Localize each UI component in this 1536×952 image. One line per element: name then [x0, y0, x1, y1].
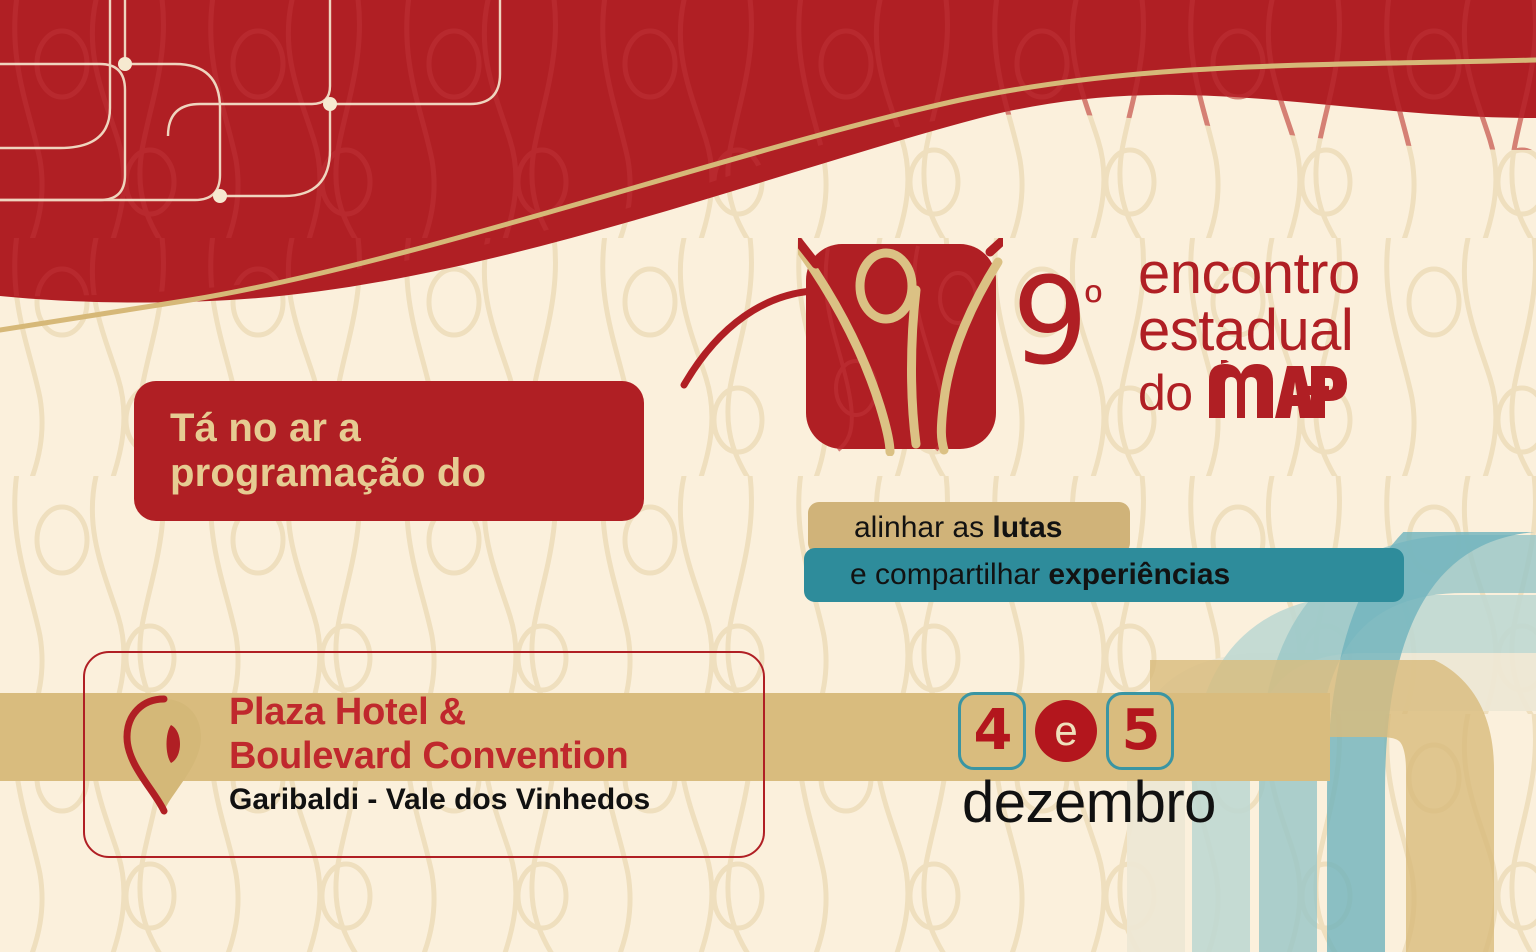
tagline-text-1: alinhar as lutas [854, 511, 1062, 545]
venue-name-line-2: Boulevard Convention [229, 734, 650, 778]
edition-number: 9 [1012, 263, 1088, 383]
map-grass-mark-icon [798, 238, 1003, 456]
date-row: 4 e 5 [958, 690, 1298, 772]
conjunction-text: e [1054, 710, 1077, 752]
logo-title-line-1: encontro [1138, 246, 1360, 303]
day-first: 4 [974, 703, 1011, 759]
day-box-first: 4 [958, 692, 1026, 770]
event-poster: Tá no ar a programação do 9 [0, 0, 1536, 952]
day-second: 5 [1122, 703, 1159, 759]
venue-text-block: Plaza Hotel & Boulevard Convention Garib… [229, 690, 650, 819]
logo-title-line-3: do [1138, 369, 1193, 418]
logo-title-lines: encontro estadual do [1138, 246, 1360, 418]
headline-line-2: programação do [170, 451, 644, 496]
edition-ordinal: º [1085, 278, 1102, 324]
tagline-text-2: e compartilhar experiências [850, 558, 1230, 592]
logo-title-line-2: estadual [1138, 303, 1360, 360]
day-box-second: 5 [1106, 692, 1174, 770]
month-label: dezembro [962, 774, 1298, 832]
tagline-bar-experiencias: e compartilhar experiências [804, 548, 1404, 602]
date-block: 4 e 5 dezembro [958, 690, 1298, 850]
tagline-bar-lutas: alinhar as lutas [808, 502, 1130, 554]
map-pin-icon [121, 695, 207, 815]
circuit-network-icon [0, 0, 560, 300]
headline-banner: Tá no ar a programação do [134, 381, 644, 521]
venue-name-line-1: Plaza Hotel & [229, 690, 650, 734]
venue-location: Garibaldi - Vale dos Vinhedos [229, 780, 650, 819]
venue-card: Plaza Hotel & Boulevard Convention Garib… [83, 651, 765, 858]
conjunction-circle: e [1035, 700, 1097, 762]
event-logo-lockup: 9 º encontro estadual do [780, 228, 1440, 458]
headline-line-1: Tá no ar a [170, 406, 644, 451]
logo-title-row-3: do [1138, 360, 1360, 418]
map-wordmark-icon [1207, 360, 1349, 418]
